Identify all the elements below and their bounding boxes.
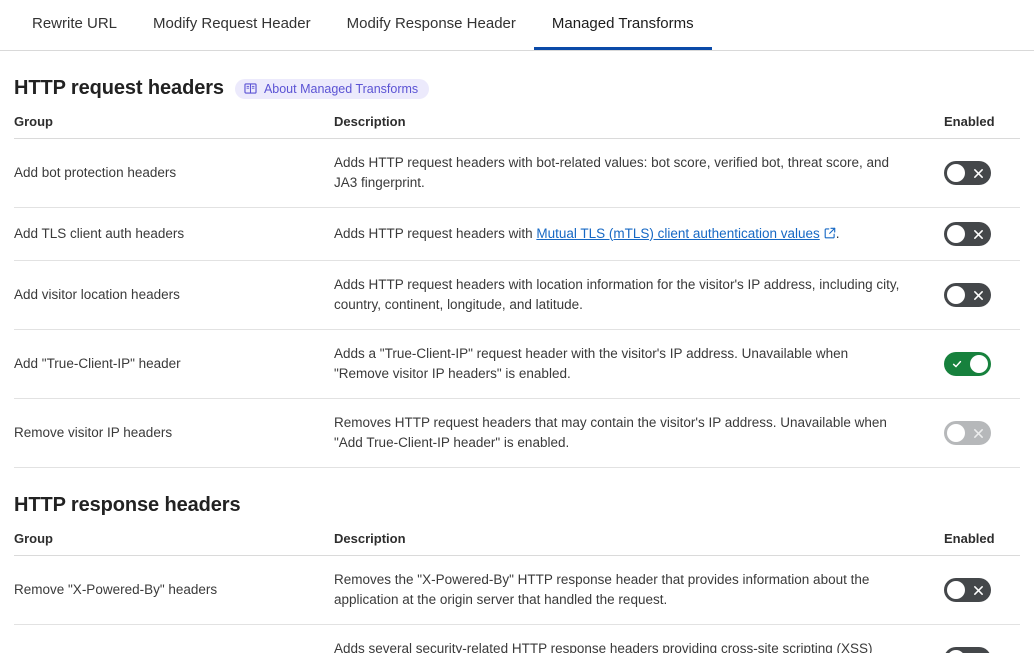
request-headers-table: Group Description Enabled Add bot protec… [14,114,1020,468]
toggle-add-tls-client-auth-headers[interactable] [944,222,991,246]
table-header-row: Group Description Enabled [14,114,1020,139]
table-row: Add security headers Adds several securi… [14,625,1020,653]
column-header-enabled: Enabled [934,114,1020,139]
row-group-label: Remove visitor IP headers [14,399,334,468]
row-description: Adds HTTP request headers with bot-relat… [334,139,934,208]
row-group-label: Remove "X-Powered-By" headers [14,556,334,625]
table-row: Add bot protection headers Adds HTTP req… [14,139,1020,208]
toggle-add-bot-protection-headers[interactable] [944,161,991,185]
column-header-group: Group [14,114,334,139]
row-enabled-cell [934,139,1020,208]
toggle-remove-visitor-ip-headers [944,421,991,445]
toggle-knob [947,286,965,304]
toggle-add-visitor-location-headers[interactable] [944,283,991,307]
book-icon [244,82,257,95]
column-header-enabled: Enabled [934,531,1020,556]
row-group-label: Add visitor location headers [14,261,334,330]
column-header-description: Description [334,114,934,139]
tab-bar: Rewrite URL Modify Request Header Modify… [0,0,1034,51]
row-description: Adds a "True-Client-IP" request header w… [334,330,934,399]
column-header-description: Description [334,531,934,556]
table-row: Remove "X-Powered-By" headers Removes th… [14,556,1020,625]
response-headers-table: Group Description Enabled Remove "X-Powe… [14,531,1020,653]
toggle-knob [947,581,965,599]
row-description: Adds HTTP request headers with Mutual TL… [334,208,934,261]
check-icon [944,352,970,376]
http-response-headers-section: HTTP response headers Group Description … [0,468,1034,653]
toggle-remove-x-powered-by-headers[interactable] [944,578,991,602]
row-description: Removes the "X-Powered-By" HTTP response… [334,556,934,625]
page-title-response: HTTP response headers [14,494,241,517]
toggle-knob [947,164,965,182]
table-row: Add TLS client auth headers Adds HTTP re… [14,208,1020,261]
description-text-before: Adds HTTP request headers with [334,226,536,241]
external-link-icon [824,225,836,245]
row-group-label: Add security headers [14,625,334,653]
row-description: Adds HTTP request headers with location … [334,261,934,330]
tab-rewrite-url[interactable]: Rewrite URL [14,0,135,50]
row-enabled-cell [934,625,1020,653]
http-request-headers-section: HTTP request headers About Managed Trans… [0,51,1034,468]
description-text-after: . [836,226,840,241]
row-description: Removes HTTP request headers that may co… [334,399,934,468]
close-icon [965,647,991,653]
toggle-knob [947,424,965,442]
mutual-tls-link[interactable]: Mutual TLS (mTLS) client authentication … [536,226,819,241]
row-enabled-cell [934,261,1020,330]
table-row: Add "True-Client-IP" header Adds a "True… [14,330,1020,399]
about-managed-transforms-badge[interactable]: About Managed Transforms [235,79,429,99]
close-icon [965,222,991,246]
toggle-knob [970,355,988,373]
tab-modify-response-header[interactable]: Modify Response Header [329,0,534,50]
request-section-header: HTTP request headers About Managed Trans… [14,51,1020,114]
row-enabled-cell [934,330,1020,399]
row-enabled-cell [934,556,1020,625]
close-icon [965,421,991,445]
about-managed-transforms-label: About Managed Transforms [264,82,418,96]
row-group-label: Add bot protection headers [14,139,334,208]
close-icon [965,283,991,307]
response-section-header: HTTP response headers [14,468,1020,531]
column-header-group: Group [14,531,334,556]
table-row: Add visitor location headers Adds HTTP r… [14,261,1020,330]
toggle-add-true-client-ip-header[interactable] [944,352,991,376]
page-title-request: HTTP request headers [14,77,224,100]
table-row: Remove visitor IP headers Removes HTTP r… [14,399,1020,468]
close-icon [965,161,991,185]
toggle-add-security-headers[interactable] [944,647,991,653]
row-group-label: Add TLS client auth headers [14,208,334,261]
row-group-label: Add "True-Client-IP" header [14,330,334,399]
row-enabled-cell [934,399,1020,468]
close-icon [965,578,991,602]
tab-modify-request-header[interactable]: Modify Request Header [135,0,329,50]
tab-managed-transforms[interactable]: Managed Transforms [534,0,712,50]
row-enabled-cell [934,208,1020,261]
row-description: Adds several security-related HTTP respo… [334,625,934,653]
table-header-row: Group Description Enabled [14,531,1020,556]
toggle-knob [947,225,965,243]
